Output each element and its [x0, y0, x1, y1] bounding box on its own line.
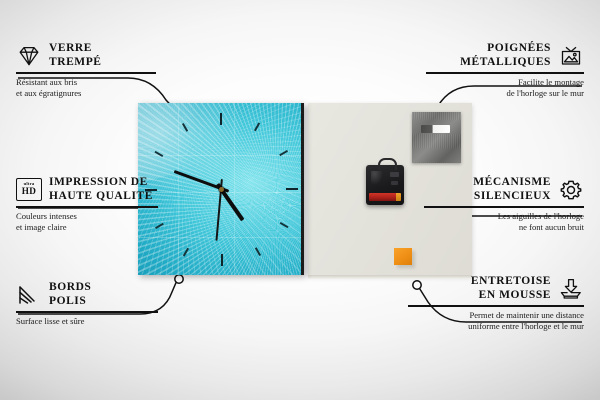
feature-rule — [408, 305, 584, 307]
feature-rule — [16, 206, 158, 208]
artwork-vband-1 — [178, 103, 179, 275]
ultra-hd-icon-main: HD — [22, 187, 36, 196]
mechanism-highlight — [371, 171, 383, 185]
feature-title: MÉCANISME SILENCIEUX — [473, 176, 551, 203]
artwork-band-3 — [138, 237, 304, 238]
feature-poignees-metalliques: POIGNÉES MÉTALLIQUES Facilite le montage… — [416, 42, 584, 99]
polished-edges-icon — [16, 283, 42, 307]
spacer-arrow-icon — [558, 277, 584, 301]
hanger-slot — [421, 125, 450, 133]
feature-verre-trempe: VERRE TREMPÉ Résistant aux bris et aux é… — [16, 42, 166, 99]
feature-title: VERRE TREMPÉ — [49, 42, 102, 69]
clock-center-pin — [219, 187, 224, 192]
feature-bords-polis: BORDS POLIS Surface lisse et sûre — [16, 281, 168, 327]
clock-mechanism-part — [366, 165, 404, 205]
battery-terminal — [396, 193, 401, 201]
feature-title: ENTRETOISE EN MOUSSE — [471, 275, 551, 302]
hanger-grain — [412, 112, 461, 163]
gear-icon — [558, 178, 584, 202]
feature-title: BORDS POLIS — [49, 281, 91, 308]
battery — [369, 193, 397, 201]
feature-title: IMPRESSION DE HAUTE QUALITÉ — [49, 176, 153, 203]
feature-impression-haute-qualite: ultra HD IMPRESSION DE HAUTE QUALITÉ Cou… — [16, 176, 168, 233]
feature-subtitle: Surface lisse et sûre — [16, 316, 168, 327]
artwork-vband-2 — [234, 103, 235, 275]
feature-subtitle: Facilite le montage de l'horloge sur le … — [416, 77, 584, 99]
foam-spacer-part — [394, 248, 412, 265]
picture-hanger-icon — [558, 44, 584, 68]
metal-hanger-part — [412, 112, 461, 163]
feature-title: POIGNÉES MÉTALLIQUES — [460, 42, 551, 69]
feature-subtitle: Résistant aux bris et aux égratignures — [16, 77, 166, 99]
feature-entretoise-en-mousse: ENTRETOISE EN MOUSSE Permet de maintenir… — [398, 275, 584, 332]
mechanism-chip-2 — [391, 181, 398, 185]
ultra-hd-icon: ultra HD — [16, 178, 42, 201]
feature-rule — [426, 72, 584, 74]
clock-right-edge — [301, 103, 304, 275]
mechanism-chip — [390, 172, 399, 177]
feature-rule — [16, 311, 158, 313]
mechanism-loop — [378, 158, 397, 170]
connector-dot-bords-polis — [175, 275, 183, 283]
feature-mecanisme-silencieux: MÉCANISME SILENCIEUX Les aiguilles de l'… — [414, 176, 584, 233]
feature-subtitle: Permet de maintenir une distance uniform… — [398, 310, 584, 332]
feature-subtitle: Les aiguilles de l'horloge ne font aucun… — [414, 211, 584, 233]
feature-rule — [16, 72, 156, 74]
diamond-icon — [16, 44, 42, 68]
infographic-stage: VERRE TREMPÉ Résistant aux bris et aux é… — [0, 0, 600, 400]
feature-rule — [424, 206, 584, 208]
feature-subtitle: Couleurs intenses et image claire — [16, 211, 168, 233]
